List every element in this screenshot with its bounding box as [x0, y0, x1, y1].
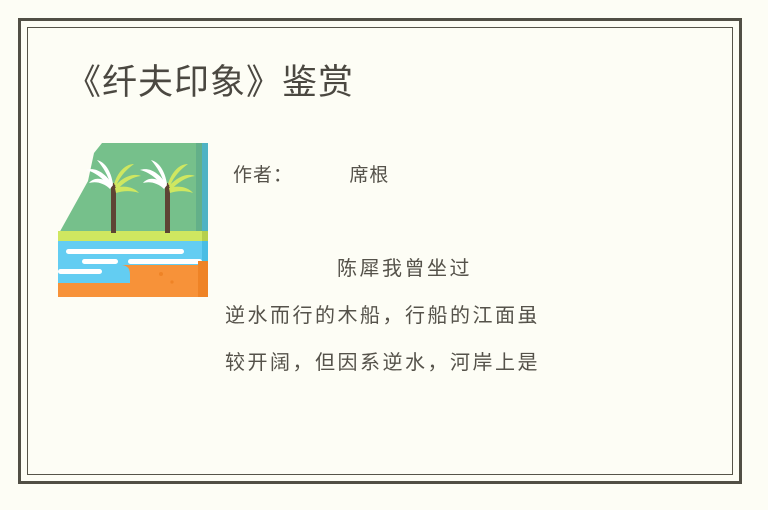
article-line-1: 陈犀我曾坐过 [225, 245, 650, 292]
sand-shadow-strip [198, 261, 208, 297]
article-line-2: 逆水而行的木船，行船的江面虽 [225, 292, 650, 339]
grass-strip-shadow [202, 231, 208, 241]
palm-right-trunk [165, 183, 170, 233]
article-text-column: 作者： 席根 陈犀我曾坐过 逆水而行的木船，行船的江面虽 较开阔，但因系逆水，河… [225, 160, 650, 386]
wave-line-1 [66, 249, 184, 254]
article-line-3: 较开阔，但因系逆水，河岸上是 [225, 339, 650, 386]
sand-base [58, 283, 208, 297]
grass-strip [58, 231, 202, 241]
tropical-island-illustration [58, 143, 208, 297]
sand-dune [120, 265, 208, 285]
palm-left-trunk [111, 183, 116, 233]
sand-speck-2 [170, 280, 173, 283]
page-title: 《纤夫印象》鉴赏 [66, 60, 354, 106]
sand-speck-1 [159, 272, 163, 276]
wave-line-3 [128, 259, 202, 264]
author-line: 作者： 席根 [233, 160, 650, 190]
wave-line-4 [58, 269, 102, 274]
wave-line-2 [82, 259, 118, 264]
